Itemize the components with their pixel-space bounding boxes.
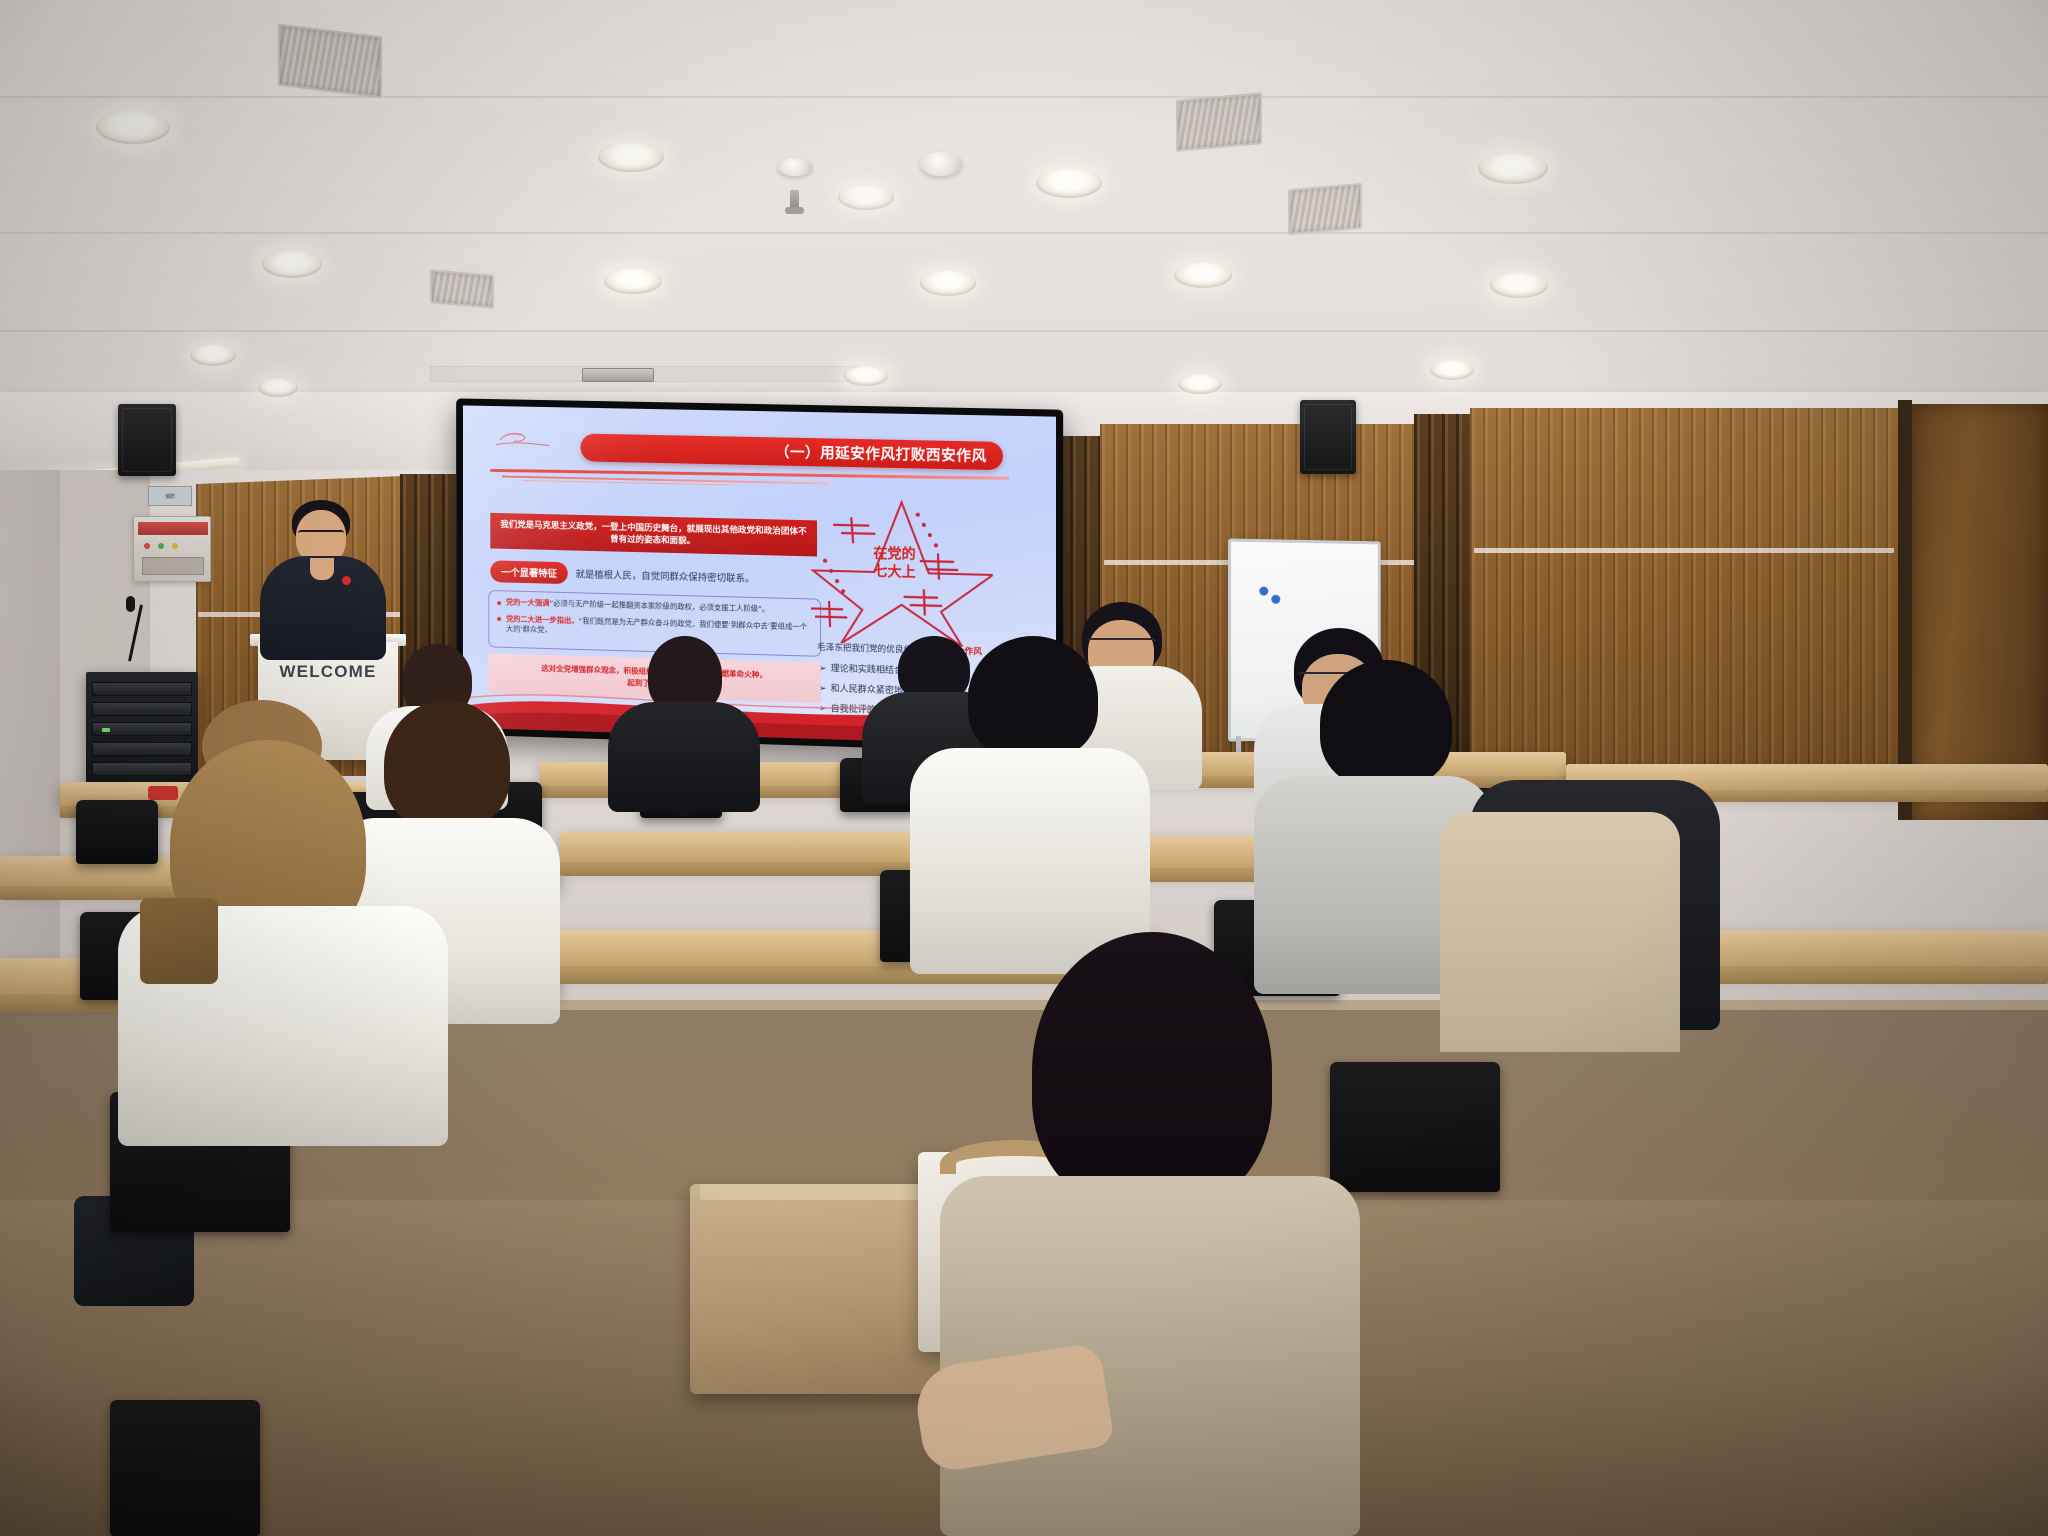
- smoke-detector-icon: [920, 152, 962, 176]
- list-item: 党的一大强调“必须与无产阶级一起推翻资本家阶级的政权，必须支援工人阶级”。: [497, 597, 812, 616]
- paper-shopping-bag[interactable]: [690, 1184, 940, 1394]
- chair[interactable]: [110, 1400, 260, 1536]
- downlight-icon: [1490, 272, 1548, 298]
- party-emblem-badge: [342, 576, 351, 585]
- downlight-icon: [258, 378, 298, 397]
- ceiling-seam: [0, 330, 2048, 332]
- star-label-line-1: 在党的: [851, 545, 938, 565]
- presenter-glasses: [298, 530, 344, 538]
- indicator-dot: [172, 543, 178, 549]
- star-graphic: 在党的 七大上: [811, 492, 993, 647]
- slide-title-text: （一）用延安作风打败西安作风: [775, 441, 987, 466]
- door-frame: [1898, 400, 1912, 820]
- indicator-dot: [144, 543, 150, 549]
- whiteboard-magnet: [1259, 587, 1268, 596]
- downlight-icon: [604, 268, 662, 294]
- star-label-line-2: 七大上: [851, 563, 938, 583]
- bullet-dot-icon: [497, 601, 501, 605]
- air-vent-icon: [278, 24, 382, 99]
- hair: [1320, 660, 1452, 788]
- control-panel-readout: [142, 557, 204, 575]
- whiteboard-magnet: [1271, 595, 1280, 604]
- rack-led: [102, 728, 110, 732]
- downlight-icon: [838, 184, 894, 210]
- audience-member-foreground: [940, 932, 1360, 1536]
- sprinkler-icon: [790, 190, 799, 210]
- presenter-collar-skin: [310, 558, 334, 580]
- arrow-bullet-icon: ➢: [819, 664, 827, 674]
- wall-speaker-icon: [118, 404, 176, 476]
- bullet-lead: 党的二大进一步指出，: [506, 614, 579, 625]
- red-banner-text: 我们党是马克思主义政党，一登上中国历史舞台，就展现出其他政党和政治团体不曾有过的…: [498, 519, 809, 551]
- downlight-icon: [1478, 152, 1548, 184]
- feature-description: 就是植根人民，自觉同群众保持密切联系。: [576, 566, 755, 585]
- slide-feature-row: 一个显著特征 就是植根人民，自觉同群众保持密切联系。: [490, 560, 754, 589]
- slide-red-banner: 我们党是马克思主义政党，一登上中国历史舞台，就展现出其他政党和政治团体不曾有过的…: [490, 513, 817, 557]
- bullet-rest: “必须与无产阶级一起推翻资本家阶级的政权，必须支援工人阶级”。: [549, 599, 769, 614]
- bullet-dot-icon: [497, 617, 501, 621]
- wood-wall-panel: [1470, 408, 1900, 778]
- downlight-icon: [1178, 374, 1222, 394]
- cloud-swirl-icon: [492, 428, 557, 451]
- presenter: [258, 500, 388, 660]
- wall-control-panel-icon[interactable]: [133, 516, 211, 582]
- torso: [608, 702, 760, 812]
- star-label: 在党的 七大上: [851, 545, 938, 582]
- shoulder-bag: [140, 898, 218, 984]
- wood-wall-trim: [1474, 548, 1894, 553]
- wall-speaker-icon: [1300, 400, 1356, 474]
- ceiling-seam: [0, 96, 2048, 98]
- bullet-lead: 党的一大强调: [506, 597, 549, 607]
- air-vent-icon: [1176, 92, 1262, 152]
- hair: [968, 636, 1098, 760]
- downlight-icon: [1174, 262, 1232, 288]
- air-vent-icon: [430, 269, 494, 309]
- ceiling-av-box: [582, 368, 654, 382]
- downlight-icon: [920, 270, 976, 296]
- downlight-icon: [1430, 360, 1474, 380]
- downlight-icon: [844, 366, 888, 386]
- downlight-icon: [1036, 168, 1102, 198]
- bullet-text: 党的一大强调“必须与无产阶级一起推翻资本家阶级的政权，必须支援工人阶级”。: [506, 597, 769, 615]
- audience-member: [1440, 812, 1680, 1052]
- control-panel-strip: [138, 522, 208, 535]
- air-vent-icon: [1288, 183, 1362, 235]
- torso: [1440, 812, 1680, 1052]
- audience-member: [604, 636, 764, 812]
- slide-title-banner: （一）用延安作风打败西安作风: [581, 434, 1003, 471]
- microphone-capsule: [126, 596, 135, 612]
- audience-member: [910, 636, 1150, 966]
- smoke-detector-icon: [778, 158, 812, 176]
- feature-pill-label: 一个显著特征: [490, 560, 567, 584]
- downlight-icon: [190, 344, 236, 366]
- downlight-icon: [262, 250, 322, 278]
- indicator-dot: [158, 543, 164, 549]
- audience-member: [118, 700, 448, 1130]
- door-icon[interactable]: [1912, 404, 2048, 820]
- downlight-icon: [96, 110, 170, 144]
- ceiling-seam: [0, 232, 2048, 234]
- classroom-scene: 消防 （一）用延安作风打败西安作风: [0, 0, 2048, 1536]
- downlight-icon: [598, 142, 664, 172]
- rack-unit: [92, 682, 192, 696]
- hair: [1032, 932, 1272, 1210]
- wall-sign: 消防: [148, 486, 192, 506]
- bag-top-fold: [700, 1184, 930, 1200]
